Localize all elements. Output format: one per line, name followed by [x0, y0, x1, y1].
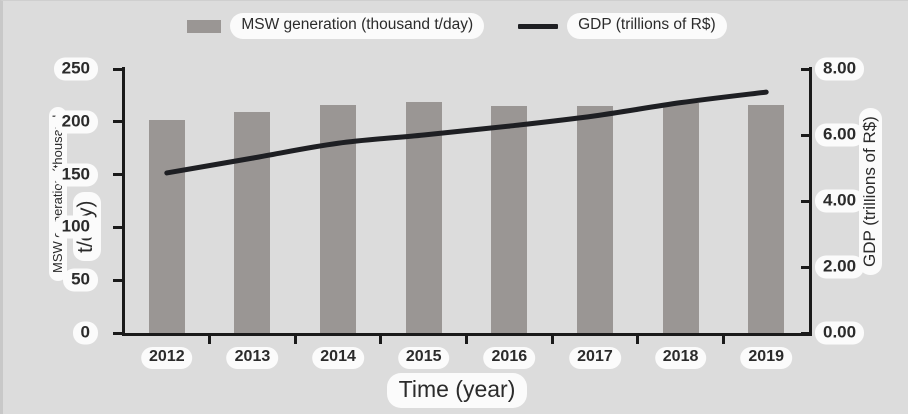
- y-axis-left-tick-label: 200: [54, 110, 98, 133]
- y-axis-right-tick-label: 0.00: [815, 321, 864, 344]
- x-axis-tick: [208, 335, 211, 344]
- chart-legend: MSW generation (thousand t/day) GDP (tri…: [3, 10, 908, 42]
- y-axis-left-tick-label: 0: [73, 321, 98, 344]
- y-axis-right-tick-label: 2.00: [815, 255, 864, 278]
- y-axis-right-tick-label: 4.00: [815, 189, 864, 212]
- legend-label-gdp: GDP (trillions of R$): [567, 13, 727, 38]
- y-axis-left-title: MSW generation (thousand t/day): [31, 113, 75, 283]
- y-axis-left-tick: [113, 173, 123, 176]
- y-axis-right-tick-label: 6.00: [815, 123, 864, 146]
- gdp-line-path: [167, 92, 766, 173]
- x-axis-tick-label: 2013: [227, 347, 279, 369]
- x-axis-tick: [636, 335, 639, 344]
- y-axis-left-tick: [113, 120, 123, 123]
- legend-entry-gdp: GDP (trillions of R$): [518, 13, 727, 38]
- line-swatch-icon: [518, 24, 558, 29]
- x-axis-tick: [294, 335, 297, 344]
- y-axis-right-tick-label: 8.00: [815, 57, 864, 80]
- x-axis-tick-label: 2019: [740, 347, 792, 369]
- y-axis-left-tick: [113, 332, 123, 335]
- bar-swatch-icon: [187, 20, 221, 33]
- y-axis-left-tick: [113, 68, 123, 71]
- y-axis-left-tick: [113, 279, 123, 282]
- x-axis-tick-label: 2017: [569, 347, 621, 369]
- x-axis-tick: [379, 335, 382, 344]
- x-axis-tick: [551, 335, 554, 344]
- y-axis-left-tick: [113, 226, 123, 229]
- x-axis-tick-label: 2014: [312, 347, 364, 369]
- legend-label-msw-generation: MSW generation (thousand t/day): [230, 13, 484, 38]
- y-axis-left-tick-label: 100: [54, 216, 98, 239]
- y-axis-left-tick-label: 150: [54, 163, 98, 186]
- gdp-line-series: [124, 69, 809, 333]
- x-axis-tick: [722, 335, 725, 344]
- y-axis-left-tick-label: 250: [54, 57, 98, 80]
- x-axis-title-text: Time (year): [387, 373, 528, 408]
- y-axis-left-tick-label: 50: [63, 269, 98, 292]
- x-axis-title: Time (year): [3, 373, 908, 408]
- x-axis-tick-label: 2016: [484, 347, 536, 369]
- chart-figure: MSW generation (thousand t/day) GDP (tri…: [0, 0, 908, 414]
- legend-entry-msw-generation: MSW generation (thousand t/day): [187, 13, 484, 38]
- x-axis-tick-label: 2012: [141, 347, 193, 369]
- x-axis-tick-label: 2018: [655, 347, 707, 369]
- x-axis-tick-label: 2015: [398, 347, 450, 369]
- x-axis-tick: [465, 335, 468, 344]
